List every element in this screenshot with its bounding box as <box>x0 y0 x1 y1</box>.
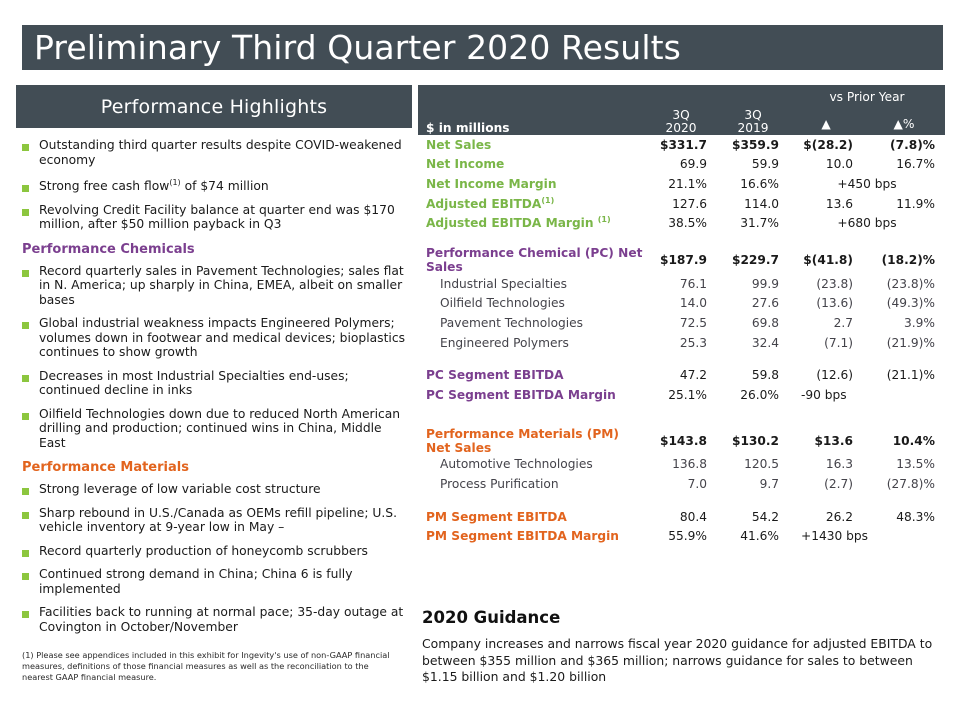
list-item: Decreases in most Industrial Specialties… <box>22 369 408 398</box>
row-label: Process Purification <box>418 474 645 494</box>
list-item: Record quarterly sales in Pavement Techn… <box>22 264 408 308</box>
spacer-cell <box>418 494 945 507</box>
performance-highlights-panel: Performance Highlights Outstanding third… <box>16 85 412 685</box>
financial-table: $ in millions 3Q 2020 3Q 2019 vs Prior Y… <box>418 85 945 546</box>
cell-delta-percent: (27.8)% <box>863 474 945 494</box>
cell-delta: 16.3 <box>789 455 863 475</box>
cell-3q2020: $187.9 <box>645 246 717 274</box>
cell-delta-percent: 16.7% <box>863 155 945 175</box>
list-item: Facilities back to running at normal pac… <box>22 605 408 634</box>
bullet-square-icon <box>22 550 29 557</box>
bullet-square-icon <box>22 611 29 618</box>
row-label: Pavement Technologies <box>418 313 645 333</box>
footnote-marker: (1) <box>598 215 611 224</box>
list-item: Strong free cash flow(1) of $74 million <box>22 179 408 194</box>
cell-delta-percent: (7.8)% <box>863 135 945 155</box>
cell-3q2020: 38.5% <box>645 213 717 233</box>
list-item: Revolving Credit Facility balance at qua… <box>22 203 408 232</box>
table-row: Process Purification7.09.7(2.7)(27.8)% <box>418 474 945 494</box>
cell-3q2020: 25.3 <box>645 333 717 353</box>
bullet-square-icon <box>22 375 29 382</box>
table-spacer-row <box>418 352 945 365</box>
highlight-text-pre: Strong free cash flow <box>39 179 169 193</box>
cell-delta-percent: (23.8)% <box>863 274 945 294</box>
highlight-text: Outstanding third quarter results despit… <box>39 138 408 167</box>
column-header-vs-prior-year: vs Prior Year <box>789 85 945 104</box>
row-label: Performance Materials (PM) Net Sales <box>418 427 645 455</box>
cell-change-bps: +450 bps <box>789 174 945 194</box>
column-header-delta: ▲ <box>789 104 863 135</box>
bullet-square-icon <box>22 144 29 151</box>
cell-delta: (12.6) <box>789 365 863 385</box>
highlight-text: Strong free cash flow(1) of $74 million <box>39 179 408 194</box>
table-row: Engineered Polymers25.332.4(7.1)(21.9)% <box>418 333 945 353</box>
financial-summary-panel: $ in millions 3Q 2020 3Q 2019 vs Prior Y… <box>418 85 945 546</box>
row-label: Adjusted EBITDA(1) <box>418 194 645 214</box>
footnote-text: (1) Please see appendices included in th… <box>22 650 402 683</box>
list-item: Continued strong demand in China; China … <box>22 567 408 596</box>
guidance-title: 2020 Guidance <box>422 608 947 627</box>
highlight-text-post: of $74 million <box>181 179 269 193</box>
cell-delta: (7.1) <box>789 333 863 353</box>
cell-3q2020: 21.1% <box>645 174 717 194</box>
row-label: PM Segment EBITDA <box>418 507 645 527</box>
cell-delta: 2.7 <box>789 313 863 333</box>
table-row: PM Segment EBITDA80.454.226.248.3% <box>418 507 945 527</box>
cell-change-bps: -90 bps <box>789 385 945 405</box>
table-spacer-row <box>418 405 945 427</box>
highlight-text: Record quarterly sales in Pavement Techn… <box>39 264 408 308</box>
row-label: Net Income <box>418 155 645 175</box>
slide-root: Preliminary Third Quarter 2020 Results P… <box>0 0 967 728</box>
cell-3q2020: 72.5 <box>645 313 717 333</box>
cell-3q2020: 80.4 <box>645 507 717 527</box>
list-item: Global industrial weakness impacts Engin… <box>22 316 408 360</box>
cell-3q2020: $331.7 <box>645 135 717 155</box>
table-row: Net Income69.959.910.016.7% <box>418 155 945 175</box>
cell-delta: (13.6) <box>789 294 863 314</box>
table-spacer-row <box>418 233 945 246</box>
cell-3q2019: 59.8 <box>717 365 789 385</box>
column-header-3q2019-line2: 2019 <box>717 122 789 135</box>
cell-delta-percent: 48.3% <box>863 507 945 527</box>
row-label: Net Sales <box>418 135 645 155</box>
table-row: Net Sales$331.7$359.9$(28.2)(7.8)% <box>418 135 945 155</box>
row-label: Industrial Specialties <box>418 274 645 294</box>
table-row: Performance Materials (PM) Net Sales$143… <box>418 427 945 455</box>
cell-3q2019: 41.6% <box>717 526 789 546</box>
cell-3q2020: 127.6 <box>645 194 717 214</box>
list-item: Strong leverage of low variable cost str… <box>22 482 408 497</box>
row-label: PC Segment EBITDA <box>418 365 645 385</box>
performance-highlights-body: Outstanding third quarter results despit… <box>16 128 412 634</box>
highlight-text: Facilities back to running at normal pac… <box>39 605 408 634</box>
cell-delta: 10.0 <box>789 155 863 175</box>
bullet-square-icon <box>22 270 29 277</box>
table-row: Pavement Technologies72.569.82.73.9% <box>418 313 945 333</box>
bullet-square-icon <box>22 488 29 495</box>
spacer-cell <box>418 233 945 246</box>
cell-3q2019: 114.0 <box>717 194 789 214</box>
highlight-text: Sharp rebound in U.S./Canada as OEMs ref… <box>39 506 408 535</box>
table-row: PM Segment EBITDA Margin55.9%41.6%+1430 … <box>418 526 945 546</box>
cell-3q2020: 47.2 <box>645 365 717 385</box>
section-heading-performance-materials: Performance Materials <box>22 460 408 475</box>
table-row: Performance Chemical (PC) Net Sales$187.… <box>418 246 945 274</box>
cell-3q2019: $359.9 <box>717 135 789 155</box>
cell-delta: (2.7) <box>789 474 863 494</box>
guidance-body: Company increases and narrows fiscal yea… <box>422 636 947 686</box>
column-header-3q2020-line2: 2020 <box>645 122 717 135</box>
row-label: PC Segment EBITDA Margin <box>418 385 645 405</box>
cell-delta-percent: 11.9% <box>863 194 945 214</box>
column-header-label: $ in millions <box>418 85 645 135</box>
bullet-square-icon <box>22 413 29 420</box>
bullet-square-icon <box>22 209 29 216</box>
highlight-text: Revolving Credit Facility balance at qua… <box>39 203 408 232</box>
highlight-text: Record quarterly production of honeycomb… <box>39 544 408 559</box>
cell-delta-percent: (21.9)% <box>863 333 945 353</box>
cell-3q2019: 32.4 <box>717 333 789 353</box>
cell-3q2019: 26.0% <box>717 385 789 405</box>
cell-delta-percent: (18.2)% <box>863 246 945 274</box>
section-heading-performance-chemicals: Performance Chemicals <box>22 242 408 257</box>
highlight-text: Global industrial weakness impacts Engin… <box>39 316 408 360</box>
cell-delta: 13.6 <box>789 194 863 214</box>
column-header-3q2020: 3Q 2020 <box>645 85 717 135</box>
table-body: Net Sales$331.7$359.9$(28.2)(7.8)%Net In… <box>418 135 945 546</box>
cell-3q2020: $143.8 <box>645 427 717 455</box>
cell-delta: $(28.2) <box>789 135 863 155</box>
spacer-cell <box>418 352 945 365</box>
row-label: Adjusted EBITDA Margin (1) <box>418 213 645 233</box>
cell-change-bps: +680 bps <box>789 213 945 233</box>
table-row: Adjusted EBITDA(1)127.6114.013.611.9% <box>418 194 945 214</box>
footnote-marker: (1) <box>541 196 554 205</box>
table-row: Oilfield Technologies14.027.6(13.6)(49.3… <box>418 294 945 314</box>
cell-3q2019: 59.9 <box>717 155 789 175</box>
highlight-text: Strong leverage of low variable cost str… <box>39 482 408 497</box>
cell-3q2019: $229.7 <box>717 246 789 274</box>
bullet-square-icon <box>22 322 29 329</box>
cell-3q2020: 14.0 <box>645 294 717 314</box>
cell-delta: (23.8) <box>789 274 863 294</box>
cell-delta-percent: 10.4% <box>863 427 945 455</box>
cell-change-bps: +1430 bps <box>789 526 945 546</box>
list-item: Sharp rebound in U.S./Canada as OEMs ref… <box>22 506 408 535</box>
bullet-square-icon <box>22 512 29 519</box>
spacer-cell <box>418 405 945 427</box>
cell-3q2019: 99.9 <box>717 274 789 294</box>
cell-delta-percent: 3.9% <box>863 313 945 333</box>
table-row: PC Segment EBITDA Margin25.1%26.0%-90 bp… <box>418 385 945 405</box>
slide-title-bar: Preliminary Third Quarter 2020 Results <box>22 25 943 70</box>
cell-3q2019: 27.6 <box>717 294 789 314</box>
footnote-marker: (1) <box>169 178 180 187</box>
cell-3q2020: 69.9 <box>645 155 717 175</box>
cell-delta: $13.6 <box>789 427 863 455</box>
bullet-square-icon <box>22 573 29 580</box>
highlight-text: Continued strong demand in China; China … <box>39 567 408 596</box>
row-label: Oilfield Technologies <box>418 294 645 314</box>
table-row: PC Segment EBITDA47.259.8(12.6)(21.1)% <box>418 365 945 385</box>
row-label: Engineered Polymers <box>418 333 645 353</box>
table-row: Adjusted EBITDA Margin (1)38.5%31.7%+680… <box>418 213 945 233</box>
highlight-text: Decreases in most Industrial Specialties… <box>39 369 408 398</box>
table-header-row-1: $ in millions 3Q 2020 3Q 2019 vs Prior Y… <box>418 85 945 104</box>
cell-3q2019: 9.7 <box>717 474 789 494</box>
cell-3q2019: $130.2 <box>717 427 789 455</box>
table-row: Net Income Margin21.1%16.6%+450 bps <box>418 174 945 194</box>
cell-3q2019: 120.5 <box>717 455 789 475</box>
table-header: $ in millions 3Q 2020 3Q 2019 vs Prior Y… <box>418 85 945 135</box>
cell-3q2020: 55.9% <box>645 526 717 546</box>
cell-delta-percent: (49.3)% <box>863 294 945 314</box>
table-row: Industrial Specialties76.199.9(23.8)(23.… <box>418 274 945 294</box>
list-item: Outstanding third quarter results despit… <box>22 138 408 167</box>
column-header-3q2019: 3Q 2019 <box>717 85 789 135</box>
cell-3q2020: 7.0 <box>645 474 717 494</box>
cell-3q2019: 31.7% <box>717 213 789 233</box>
list-item: Oilfield Technologies down due to reduce… <box>22 407 408 451</box>
row-label: Net Income Margin <box>418 174 645 194</box>
cell-delta-percent: (21.1)% <box>863 365 945 385</box>
cell-3q2019: 16.6% <box>717 174 789 194</box>
table-spacer-row <box>418 494 945 507</box>
page-title: Preliminary Third Quarter 2020 Results <box>22 28 681 67</box>
row-label: PM Segment EBITDA Margin <box>418 526 645 546</box>
cell-3q2019: 54.2 <box>717 507 789 527</box>
cell-delta: 26.2 <box>789 507 863 527</box>
cell-3q2019: 69.8 <box>717 313 789 333</box>
table-row: Automotive Technologies136.8120.516.313.… <box>418 455 945 475</box>
row-label: Automotive Technologies <box>418 455 645 475</box>
cell-3q2020: 136.8 <box>645 455 717 475</box>
performance-highlights-title: Performance Highlights <box>101 96 328 118</box>
row-label: Performance Chemical (PC) Net Sales <box>418 246 645 274</box>
bullet-square-icon <box>22 185 29 192</box>
guidance-section: 2020 Guidance Company increases and narr… <box>422 608 947 686</box>
cell-delta: $(41.8) <box>789 246 863 274</box>
highlight-text: Oilfield Technologies down due to reduce… <box>39 407 408 451</box>
cell-3q2020: 25.1% <box>645 385 717 405</box>
list-item: Record quarterly production of honeycomb… <box>22 544 408 559</box>
cell-delta-percent: 13.5% <box>863 455 945 475</box>
column-header-delta-percent: ▲% <box>863 104 945 135</box>
performance-highlights-header: Performance Highlights <box>16 85 412 128</box>
cell-3q2020: 76.1 <box>645 274 717 294</box>
